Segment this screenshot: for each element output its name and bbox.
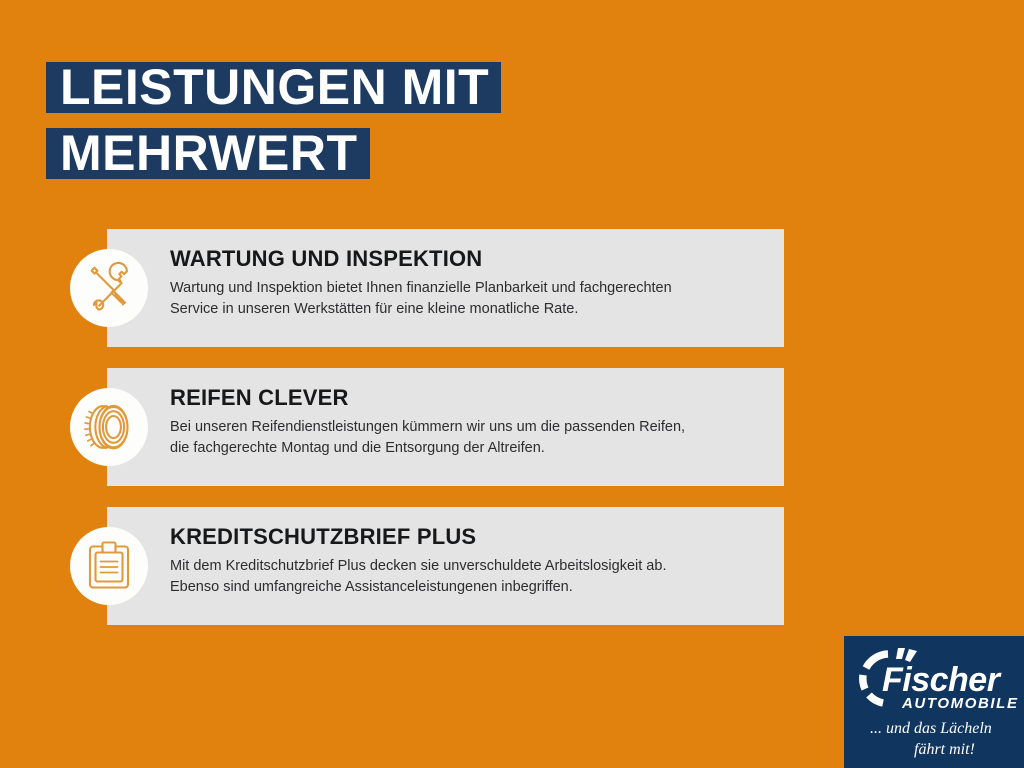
service-card[interactable]: KREDITSCHUTZBRIEF PLUS Mit dem Kreditsch… xyxy=(107,507,784,625)
company-logo[interactable]: Fischer AUTOMOBILE ... und das Lächeln f… xyxy=(838,636,1024,768)
logo-subtitle-text: AUTOMOBILE xyxy=(901,695,1019,712)
service-card-description-line-2: die fachgerechte Montag und die Entsorgu… xyxy=(170,440,545,456)
service-card-description: Mit dem Kreditschutzbrief Plus decken si… xyxy=(170,556,762,598)
service-card-list: WARTUNG UND INSPEKTION Wartung und Inspe… xyxy=(107,229,784,625)
page-title-row-2: MEHRWERT xyxy=(46,128,501,179)
service-card[interactable]: REIFEN CLEVER Bei unseren Reifendienstle… xyxy=(107,368,784,486)
service-card-description-line-1: Wartung und Inspektion bietet Ihnen fina… xyxy=(170,280,672,296)
logo-wordmark: Fischer AUTOMOBILE xyxy=(852,644,1024,716)
service-card-description-line-1: Mit dem Kreditschutzbrief Plus decken si… xyxy=(170,558,666,574)
service-card-description: Wartung und Inspektion bietet Ihnen fina… xyxy=(170,278,762,320)
service-card-description: Bei unseren Reifendienstleistungen kümme… xyxy=(170,417,762,459)
logo-tagline-line-2: fährt mit! xyxy=(914,741,975,758)
logo-tagline: ... und das Lächeln fährt mit! xyxy=(866,714,1016,762)
service-card-title: WARTUNG UND INSPEKTION xyxy=(170,246,762,272)
clipboard-icon xyxy=(70,527,148,605)
service-card-description-line-2: Ebenso sind umfangreiche Assistanceleist… xyxy=(170,579,573,595)
service-card-description-line-2: Service in unseren Werkstätten für eine … xyxy=(170,301,578,317)
service-card-title: KREDITSCHUTZBRIEF PLUS xyxy=(170,524,762,550)
page-title-line-1: LEISTUNGEN MIT xyxy=(46,62,501,113)
service-card-title: REIFEN CLEVER xyxy=(170,385,762,411)
page-title-line-2: MEHRWERT xyxy=(46,128,370,179)
logo-brand-text: Fischer xyxy=(882,661,1002,699)
wrench-screwdriver-icon xyxy=(70,249,148,327)
page-title-row-1: LEISTUNGEN MIT xyxy=(46,62,501,113)
swoosh-tick xyxy=(896,648,917,662)
service-card[interactable]: WARTUNG UND INSPEKTION Wartung und Inspe… xyxy=(107,229,784,347)
page-title: LEISTUNGEN MIT MEHRWERT xyxy=(46,62,501,179)
logo-tagline-line-1: ... und das Lächeln xyxy=(870,720,992,737)
service-card-description-line-1: Bei unseren Reifendienstleistungen kümme… xyxy=(170,419,685,435)
tire-icon xyxy=(70,388,148,466)
